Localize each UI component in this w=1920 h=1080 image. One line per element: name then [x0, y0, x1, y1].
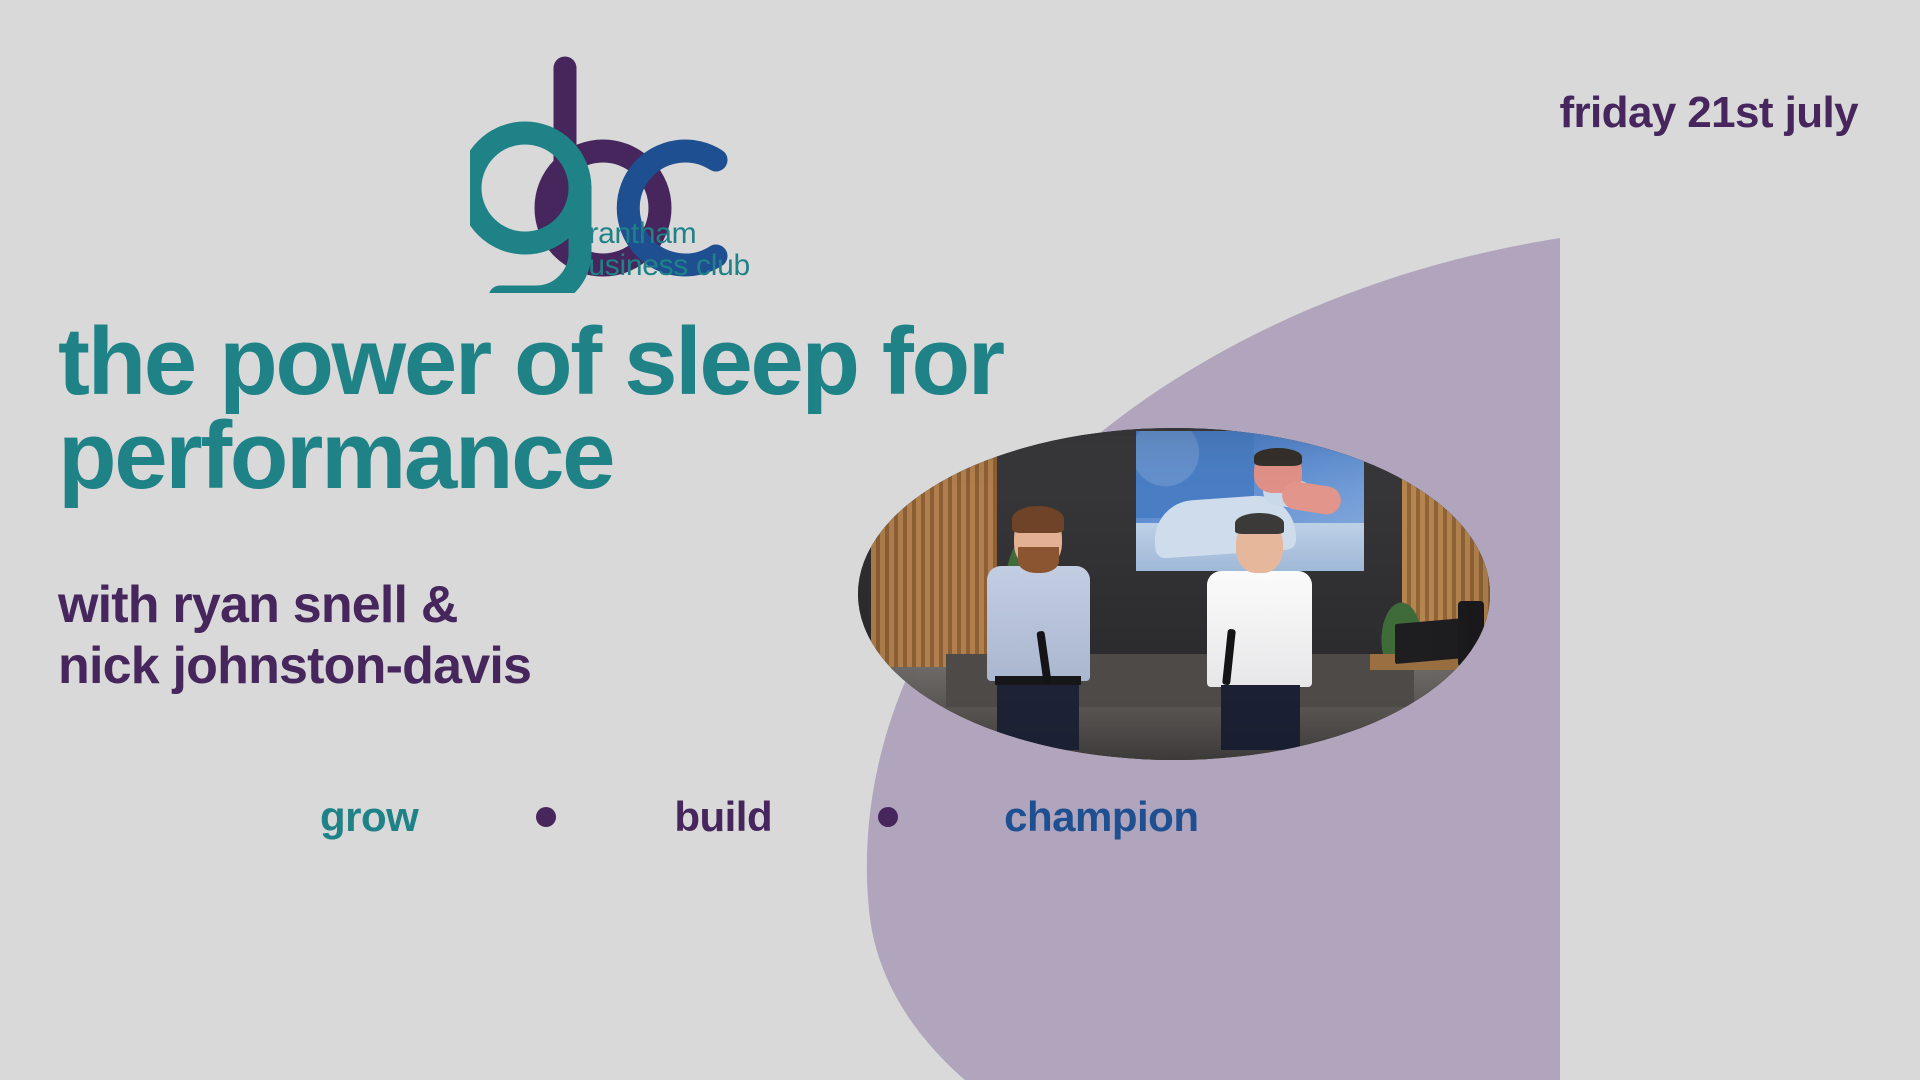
speaker-right-trousers	[1221, 685, 1301, 750]
photo-laptop	[1395, 618, 1465, 664]
tagline-item-grow: grow	[320, 793, 418, 841]
speaker-left-hair	[1012, 506, 1064, 532]
event-poster: grantham business club friday 21st july …	[0, 0, 1920, 1080]
speaker-right-hair	[1235, 513, 1284, 534]
photo-speaker-left	[984, 511, 1091, 750]
wordmark-line-1: grantham	[572, 218, 750, 250]
screen-sleeper-hair	[1254, 448, 1302, 466]
event-photo	[858, 428, 1490, 760]
speaker-right-shirt	[1207, 571, 1312, 687]
photo-water-bottle	[1458, 601, 1483, 667]
photo-scene	[858, 428, 1490, 760]
speaker-names: with ryan snell & nick johnston-davis	[58, 575, 531, 698]
speaker-left-belt	[995, 676, 1081, 686]
photo-wood-panel-left	[871, 428, 997, 674]
speaker-line-2: nick johnston-davis	[58, 636, 531, 697]
screen-sleeper-arm	[1280, 480, 1343, 517]
bullet-dot-icon	[878, 807, 898, 827]
wordmark-line-2: business club	[572, 250, 750, 282]
gbc-wordmark: grantham business club	[572, 218, 750, 283]
event-date: friday 21st july	[1559, 88, 1858, 138]
speaker-line-1: with ryan snell &	[58, 575, 531, 636]
photo-speaker-right	[1206, 518, 1313, 750]
blob-mask	[1560, 180, 1920, 1080]
bullet-dot-icon	[536, 807, 556, 827]
speaker-left-shirt	[987, 566, 1090, 681]
brand-tagline: grow build champion	[320, 793, 1199, 841]
tagline-item-champion: champion	[1004, 793, 1198, 841]
headline-line-1: the power of sleep for	[58, 308, 1003, 415]
speaker-left-trousers	[997, 683, 1079, 750]
speaker-left-beard	[1018, 547, 1059, 573]
tagline-item-build: build	[674, 793, 772, 841]
